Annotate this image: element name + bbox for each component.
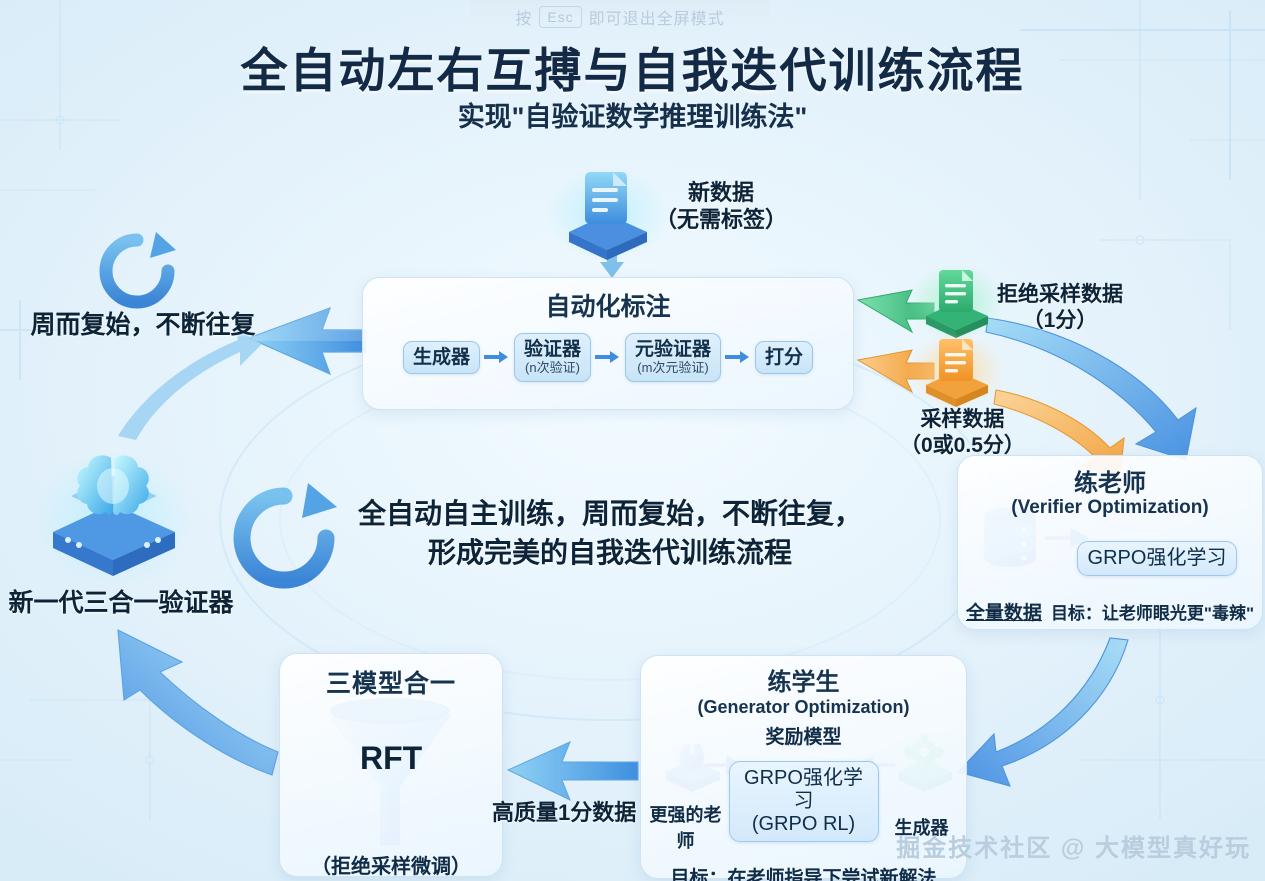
fullscreen-hint-prefix: 按 <box>515 5 532 29</box>
student-grpo-line2: (GRPO RL) <box>752 813 855 835</box>
automation-labeling-panel: 自动化标注 生成器 验证器 (n次验证) 元验证器 (m次元验证) 打分 <box>362 277 854 410</box>
arrow-to-reject-data <box>858 290 934 332</box>
step-generator[interactable]: 生成器 <box>403 341 480 374</box>
document-stack-icon <box>545 166 669 262</box>
step-arrow-2 <box>595 350 621 364</box>
high-quality-data-label: 高质量1分数据 <box>492 795 636 827</box>
arrow-verifier-loop <box>118 328 262 440</box>
student-right-cell: 生成器 <box>883 762 961 840</box>
teacher-goal: 目标：让老师眼光更"毒辣" <box>1051 599 1254 624</box>
arrow-teacher-to-student <box>958 638 1128 786</box>
rft-funnel-label: RFT <box>360 740 422 777</box>
teacher-data-label: 全量数据 <box>966 598 1042 625</box>
step-scoring[interactable]: 打分 <box>755 341 813 374</box>
automation-title: 自动化标注 <box>363 287 853 323</box>
arrow-rft-to-verifier <box>118 630 278 775</box>
fullscreen-hint-bar: 按 Esc 即可退出全屏模式 <box>470 0 770 34</box>
student-grpo-line1: GRPO强化学习 <box>744 767 863 812</box>
rft-caption: （拒绝采样微调） <box>280 850 502 879</box>
step-meta-verifier-label: 元验证器 <box>635 339 711 360</box>
student-left-cell: 更强的老师 <box>647 749 725 853</box>
student-row: 更强的老师 GRPO强化学习 (GRPO RL) 生成器 <box>641 749 966 853</box>
step-generator-label: 生成器 <box>413 347 470 368</box>
diagram-canvas: 按 Esc 即可退出全屏模式 全自动左右互搏与自我迭代训练流程 实现"自验证数学… <box>0 0 1265 881</box>
step-arrow-1 <box>484 350 510 364</box>
reject-data-line2: （1分） <box>997 308 1123 334</box>
arrow-newdata-down <box>600 240 624 278</box>
center-line-1: 全自动自主训练，周而复始，不断往复， <box>350 495 870 534</box>
reject-data-line1: 拒绝采样数据 <box>997 282 1123 308</box>
student-grpo-chip[interactable]: GRPO强化学习 (GRPO RL) <box>729 761 879 842</box>
student-subtitle: (Generator Optimization) <box>641 697 966 718</box>
teacher-database-slot <box>983 525 1069 591</box>
generator-caption: 生成器 <box>883 814 961 840</box>
teacher-subtitle: (Verifier Optimization) <box>958 497 1262 519</box>
loop-top-label: 周而复始，不断往复 <box>18 305 268 341</box>
document-green-icon <box>908 264 1004 340</box>
step-verifier-sub: (n次验证) <box>524 361 581 376</box>
step-meta-verifier-sub: (m次元验证) <box>635 361 711 376</box>
stronger-teacher-caption: 更强的老师 <box>647 801 725 853</box>
new-data-line1: 新数据 <box>655 180 787 207</box>
arrow-to-sample-data <box>858 350 934 392</box>
student-title: 练学生 <box>641 662 966 697</box>
teacher-row: GRPO强化学习 <box>958 525 1262 591</box>
generator-optimization-panel: 练学生 (Generator Optimization) 奖励模型 更强的老师 … <box>640 655 967 879</box>
sampling-data-label: 采样数据 （0或0.5分） <box>900 407 1025 458</box>
student-goal: 目标：在老师指导下尝试新解法 <box>641 863 966 881</box>
refresh-loop-icon-top <box>106 232 176 302</box>
center-line-2: 形成完美的自我迭代训练流程 <box>350 534 870 573</box>
reward-model-label: 奖励模型 <box>641 722 966 749</box>
reject-sampling-data-label: 拒绝采样数据 （1分） <box>997 282 1123 333</box>
document-orange-icon <box>908 333 1004 409</box>
step-scoring-label: 打分 <box>765 347 803 368</box>
step-verifier[interactable]: 验证器 (n次验证) <box>514 333 591 382</box>
brain-chip-icon <box>33 452 193 588</box>
automation-step-row: 生成器 验证器 (n次验证) 元验证器 (m次元验证) 打分 <box>363 333 853 382</box>
esc-key-badge: Esc <box>539 6 581 28</box>
teacher-footer: 全量数据 目标：让老师眼光更"毒辣" <box>958 598 1262 625</box>
step-meta-verifier[interactable]: 元验证器 (m次元验证) <box>625 333 721 382</box>
step-verifier-label: 验证器 <box>524 339 581 360</box>
new-data-line2: （无需标签） <box>655 207 787 234</box>
teacher-grpo-chip[interactable]: GRPO强化学习 <box>1077 541 1238 576</box>
sample-data-line1: 采样数据 <box>900 407 1025 433</box>
teacher-title: 练老师 <box>958 463 1262 498</box>
verifier-label: 新一代三合一验证器 <box>0 583 246 619</box>
page-subtitle: 实现"自验证数学推理训练法" <box>0 95 1265 134</box>
step-arrow-3 <box>725 350 751 364</box>
rft-title: 三模型合一 <box>280 664 502 700</box>
fullscreen-hint-suffix: 即可退出全屏模式 <box>589 5 725 29</box>
arrow-student-to-rft <box>508 742 638 800</box>
center-summary-text: 全自动自主训练，周而复始，不断往复， 形成完美的自我迭代训练流程 <box>350 495 870 572</box>
new-data-label: 新数据 （无需标签） <box>655 180 787 234</box>
verifier-optimization-panel: 练老师 (Verifier Optimization) GRPO强化学习 全量数… <box>957 455 1263 630</box>
page-title: 全自动左右互搏与自我迭代训练流程 <box>0 32 1265 101</box>
refresh-loop-icon-center <box>242 483 337 580</box>
